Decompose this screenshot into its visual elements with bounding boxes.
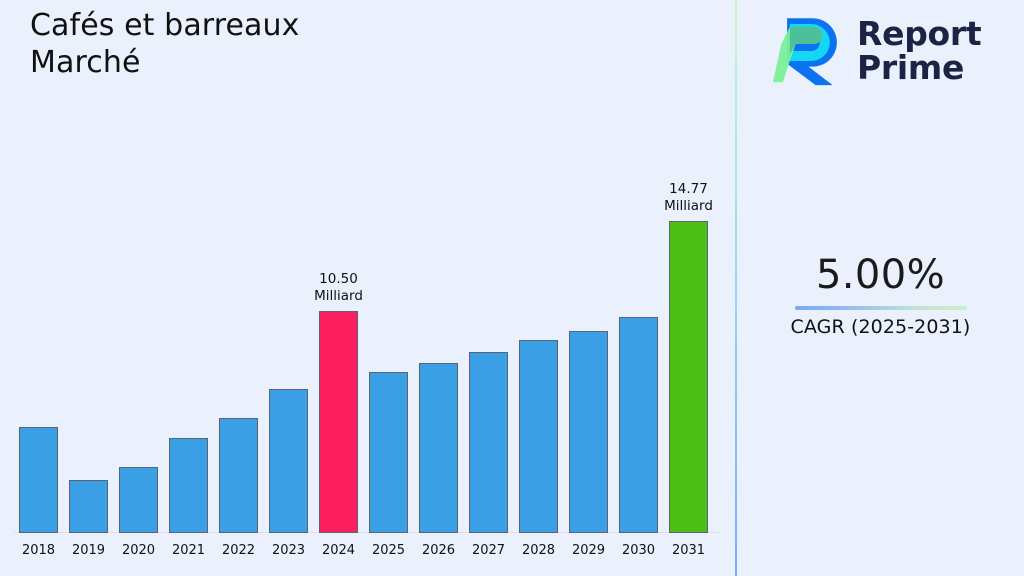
bar-2021 [169,438,208,533]
x-tick-2020: 2020 [113,543,164,558]
x-tick-2024: 2024 [313,543,364,558]
bar-2024 [319,311,358,533]
bar-value-label-2024: 10.50 Milliard [293,271,384,305]
x-tick-2023: 2023 [263,543,314,558]
x-tick-2022: 2022 [213,543,264,558]
x-tick-2018: 2018 [13,543,64,558]
x-tick-2031: 2031 [663,543,714,558]
x-tick-2028: 2028 [513,543,564,558]
bar-value-label-2031: 14.77 Milliard [643,181,734,215]
bar-2025 [369,372,408,533]
brand-logo: Report Prime [771,14,981,88]
side-panel: Report Prime 5.00% CAGR (2025-2031) [737,0,1024,576]
bar-2020 [119,467,158,533]
x-tick-2019: 2019 [63,543,114,558]
bar-2028 [519,340,558,533]
cagr-divider-rule [795,306,967,310]
x-tick-2027: 2027 [463,543,514,558]
bar-2018 [19,427,58,533]
x-tick-2025: 2025 [363,543,414,558]
bar-2026 [419,363,458,533]
bar-2019 [69,480,108,533]
chart-panel: Cafés et barreaux Marché 10.50 Milliard1… [0,0,736,576]
report-prime-r-mark-icon [771,14,843,88]
bar-2027 [469,352,508,533]
bar-2029 [569,331,608,533]
x-tick-2026: 2026 [413,543,464,558]
bar-2023 [269,389,308,533]
bar-2030 [619,317,658,533]
bar-2022 [219,418,258,533]
cagr-caption: CAGR (2025-2031) [737,316,1024,338]
x-tick-2029: 2029 [563,543,614,558]
slide-root: Cafés et barreaux Marché 10.50 Milliard1… [0,0,1024,576]
x-tick-2021: 2021 [163,543,214,558]
cagr-block: 5.00% CAGR (2025-2031) [737,252,1024,338]
bar-2031 [669,221,708,533]
brand-logo-text: Report Prime [857,17,981,86]
x-tick-2030: 2030 [613,543,664,558]
cagr-value: 5.00% [737,252,1024,298]
